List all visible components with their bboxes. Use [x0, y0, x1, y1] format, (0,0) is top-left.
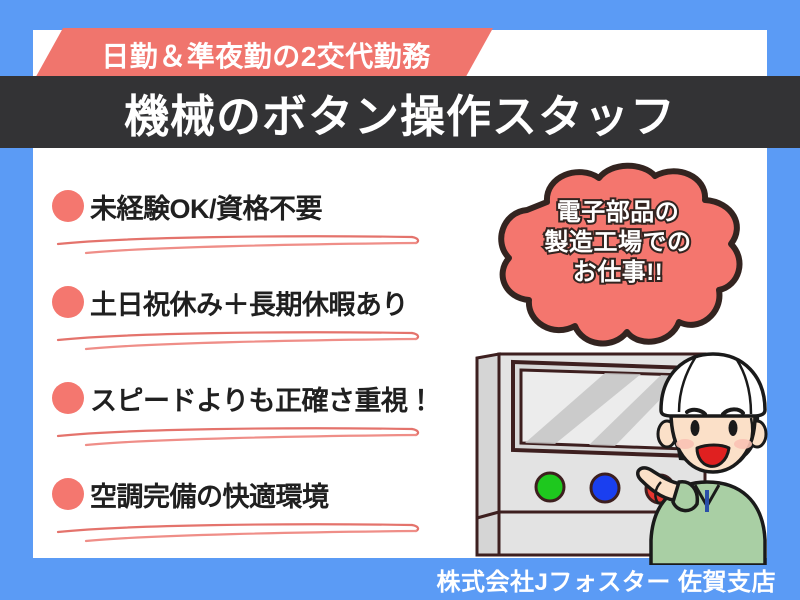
bullet-dot-icon	[52, 382, 84, 414]
benefit-label: 空調完備の快適環境	[90, 475, 329, 514]
company-name: 株式会社Jフォスター 佐賀支店	[436, 562, 776, 597]
bullet-dot-icon	[52, 478, 84, 510]
job-ad-poster: 日勤＆準夜勤の2交代勤務 機械のボタン操作スタッフ 未経験OK/資格不要 土日祝…	[0, 0, 800, 600]
list-item: 土日祝休み＋長期休暇あり	[52, 274, 472, 370]
handdrawn-underline-icon	[56, 330, 456, 356]
benefit-label: 土日祝休み＋長期休暇あり	[90, 283, 408, 322]
benefits-list: 未経験OK/資格不要 土日祝休み＋長期休暇あり スピードよりも正確さ	[52, 178, 472, 562]
shift-ribbon-label: 日勤＆準夜勤の2交代勤務	[33, 28, 493, 82]
speech-bubble: 電子部品の 製造工場での お仕事!!	[487, 162, 749, 352]
handdrawn-underline-icon	[56, 426, 456, 452]
benefit-label: 未経験OK/資格不要	[90, 187, 322, 226]
shift-ribbon: 日勤＆準夜勤の2交代勤務	[33, 28, 493, 82]
machine-operator-illustration	[455, 340, 800, 565]
cloud-shape-icon	[487, 162, 749, 352]
page-title: 機械のボタン操作スタッフ	[124, 80, 676, 145]
bullet-dot-icon	[52, 286, 84, 318]
handdrawn-underline-icon	[56, 234, 456, 260]
blue-button[interactable]	[591, 474, 619, 502]
bullet-dot-icon	[52, 190, 84, 222]
footer-bar: 株式会社Jフォスター 佐賀支店	[0, 558, 800, 600]
handdrawn-underline-icon	[56, 522, 456, 548]
list-item: 空調完備の快適環境	[52, 466, 472, 562]
job-title-band: 機械のボタン操作スタッフ	[0, 76, 800, 148]
list-item: 未経験OK/資格不要	[52, 178, 472, 274]
benefit-label: スピードよりも正確さ重視！	[90, 379, 434, 418]
list-item: スピードよりも正確さ重視！	[52, 370, 472, 466]
green-button[interactable]	[536, 473, 564, 501]
illustration-svg	[455, 340, 800, 565]
